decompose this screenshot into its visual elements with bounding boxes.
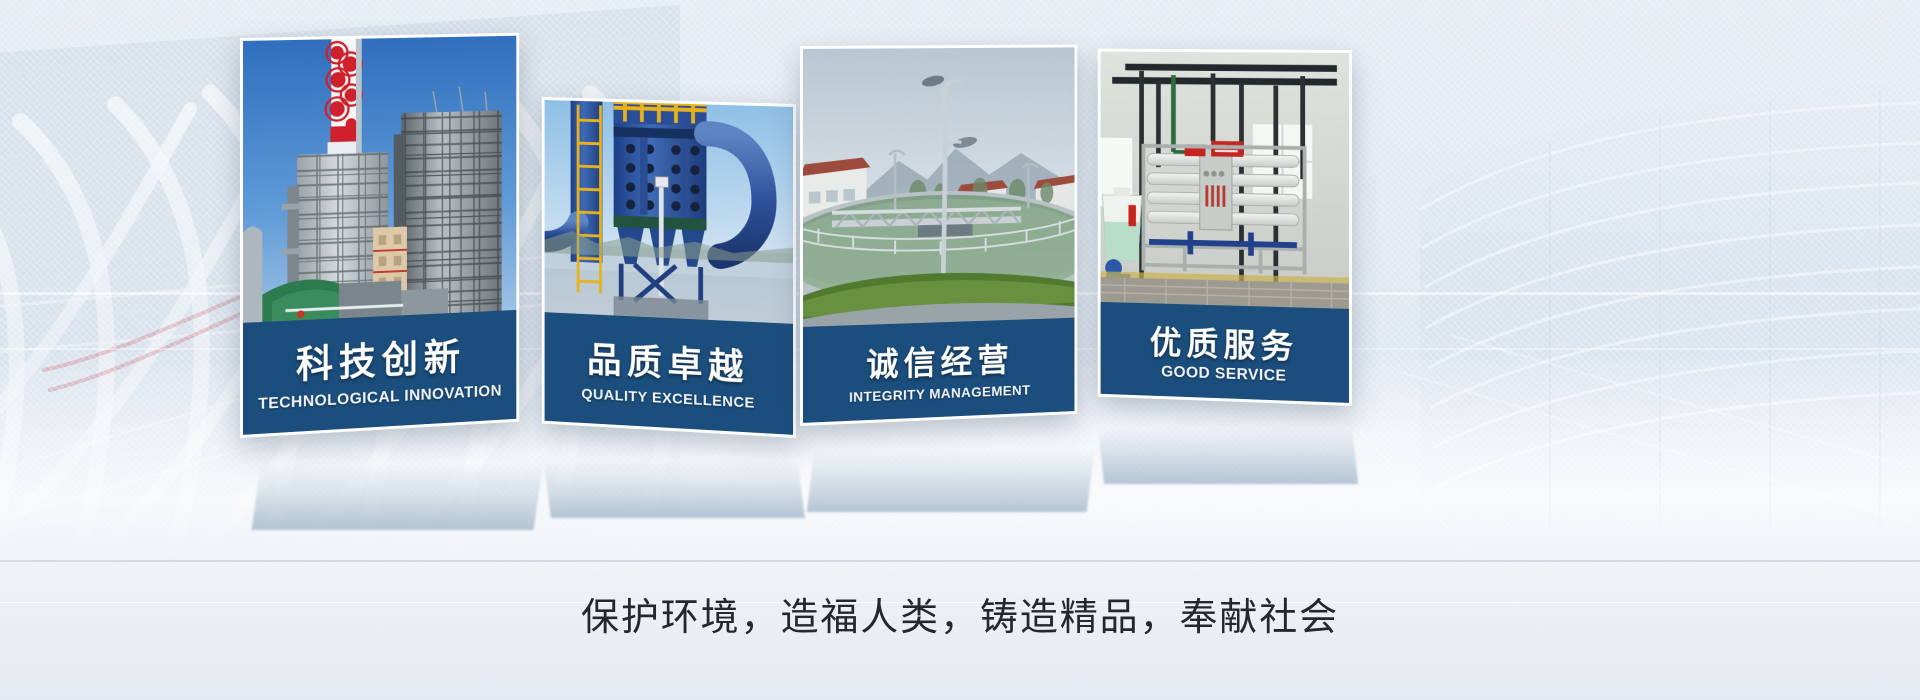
panel-photo-integrity-management (803, 47, 1074, 333)
banner-stage: 科技创新 TECHNOLOGICAL INNOVATION (0, 0, 1920, 700)
banner-slogan: 保护环境，造福人类，铸造精品，奉献社会 (0, 586, 1920, 641)
panel-photo-quality-excellence (545, 100, 793, 329)
panel-title-en-2: QUALITY EXCELLENCE (581, 386, 754, 410)
panel-title-cn-1: 科技创新 (296, 339, 466, 385)
panel-title-en-1: TECHNOLOGICAL INNOVATION (258, 384, 502, 413)
panel-good-service[interactable]: 优质服务 GOOD SERVICE (1098, 49, 1352, 406)
panel-technological-innovation[interactable]: 科技创新 TECHNOLOGICAL INNOVATION (240, 33, 519, 438)
panel-photo-good-service (1101, 52, 1349, 315)
panel-quality-excellence[interactable]: 品质卓越 QUALITY EXCELLENCE (542, 97, 796, 438)
panel-caption-good-service: 优质服务 GOOD SERVICE (1101, 308, 1349, 403)
panel-photo-technological-innovation (243, 36, 516, 329)
panel-title-en-4: GOOD SERVICE (1161, 364, 1286, 384)
panel-title-cn-4: 优质服务 (1150, 325, 1299, 362)
panel-title-cn-3: 诚信经营 (866, 343, 1013, 381)
panel-caption-technological-innovation: 科技创新 TECHNOLOGICAL INNOVATION (243, 316, 516, 435)
panel-title-cn-2: 品质卓越 (587, 341, 749, 385)
panel-integrity-management[interactable]: 诚信经营 INTEGRITY MANAGEMENT (800, 44, 1077, 426)
panel-caption-quality-excellence: 品质卓越 QUALITY EXCELLENCE (545, 317, 793, 435)
panel-title-en-3: INTEGRITY MANAGEMENT (849, 382, 1031, 403)
panel-caption-integrity-management: 诚信经营 INTEGRITY MANAGEMENT (803, 324, 1074, 423)
